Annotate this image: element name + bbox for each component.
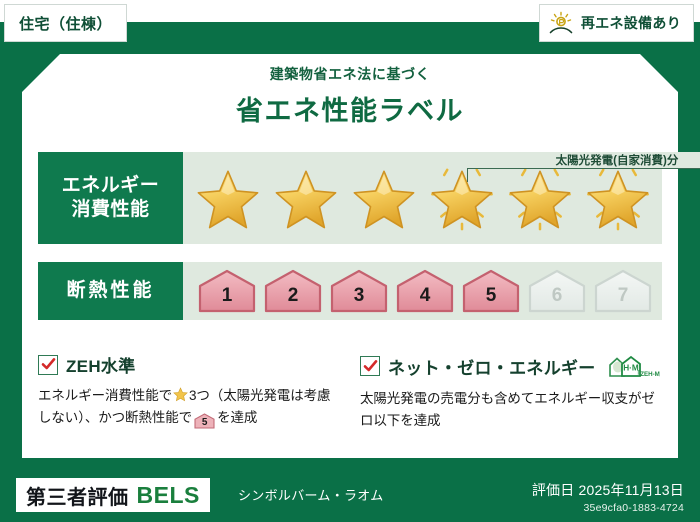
star-icon (347, 161, 421, 235)
insulation-level-5: 5 (461, 268, 521, 314)
criterion-zeh-title: ZEH水準 (66, 352, 136, 377)
evaluation-date-label: 評価日 (532, 482, 575, 498)
criteria-section: ZEH水準 エネルギー消費性能で3つ（太陽光発電は考慮しない）、かつ断熱性能で5… (38, 352, 662, 432)
solar-caption: 太陽光発電(自家消費)分 (467, 152, 700, 168)
title-main: 省エネ性能ラベル (0, 89, 700, 128)
criterion-nze-header: ネット・ゼロ・エネルギー H·M 「ZEH-M」 (360, 352, 662, 380)
energy-performance-row: エネルギー 消費性能 太陽光発電(自家消費)分 (38, 152, 662, 244)
inline-star-icon (173, 387, 188, 402)
insulation-level-scale: 1 2 (183, 268, 653, 314)
insulation-level-7: 7 (593, 268, 653, 314)
energy-performance-body: 太陽光発電(自家消費)分 (183, 152, 662, 244)
zeh-body-post: を達成 (217, 410, 257, 425)
insulation-performance-body: 1 2 (183, 262, 662, 320)
building-type-label: 住宅（住棟） (19, 13, 112, 34)
check-icon (41, 357, 56, 372)
bels-jp-label: 第三者評価 (26, 481, 129, 510)
building-type-tag: 住宅（住棟） (4, 4, 127, 42)
insulation-level-number: 5 (486, 286, 497, 314)
bels-en-label: BELS (137, 482, 200, 509)
star-icon (191, 161, 265, 235)
sun-icon (548, 11, 574, 35)
insulation-performance-row: 断熱性能 1 (38, 262, 662, 320)
zeh-m-logo-icon: H·M 「ZEH-M」 (606, 352, 660, 380)
insulation-level-1: 1 (197, 268, 257, 314)
inline-house-number: 5 (194, 413, 215, 432)
check-icon (363, 359, 378, 374)
checkbox-zeh (38, 355, 58, 375)
evaluation-id: 35e9cfa0-1883-4724 (532, 502, 684, 514)
criterion-zeh-standard: ZEH水準 エネルギー消費性能で3つ（太陽光発電は考慮しない）、かつ断熱性能で5… (38, 352, 340, 432)
inline-house-badge: 5 (194, 413, 215, 429)
insulation-level-2: 2 (263, 268, 323, 314)
criterion-nze-title: ネット・ゼロ・エネルギー (388, 354, 596, 379)
svg-text:「ZEH-M」: 「ZEH-M」 (634, 370, 660, 378)
insulation-level-number: 6 (552, 286, 563, 314)
evaluation-date-value: 2025年11月13日 (579, 482, 684, 498)
energy-performance-label: 住宅（住棟） 再エネ設備あり 建築物省エネ法に基づく 省エネ性能ラベル エネルギ… (0, 0, 700, 522)
criterion-zeh-header: ZEH水準 (38, 352, 340, 377)
star-3 (345, 158, 423, 238)
star-2 (267, 158, 345, 238)
criterion-zeh-body: エネルギー消費性能で3つ（太陽光発電は考慮しない）、かつ断熱性能で5を達成 (38, 385, 340, 429)
property-name: シンボルバーム・ラオム (238, 485, 384, 504)
insulation-level-number: 1 (222, 286, 233, 314)
renewable-badge-label: 再エネ設備あり (581, 13, 681, 33)
insulation-level-number: 4 (420, 286, 431, 314)
evaluation-date: 評価日 2025年11月13日 (532, 480, 684, 500)
zeh-body-pre: エネルギー消費性能で (38, 388, 172, 403)
insulation-level-6: 6 (527, 268, 587, 314)
energy-label-line2: 消費性能 (71, 198, 149, 222)
insulation-level-3: 3 (329, 268, 389, 314)
renewable-equipment-badge: 再エネ設備あり (539, 4, 694, 42)
star-icon (269, 161, 343, 235)
criterion-net-zero-energy: ネット・ゼロ・エネルギー H·M 「ZEH-M」 太陽光発電の売電分も含めてエネ… (360, 352, 662, 432)
criterion-nze-body: 太陽光発電の売電分も含めてエネルギー収支がゼロ以下を達成 (360, 388, 662, 432)
insulation-level-number: 2 (288, 286, 299, 314)
evaluation-info: 評価日 2025年11月13日 35e9cfa0-1883-4724 (532, 480, 684, 514)
energy-label-line1: エネルギー (62, 174, 160, 198)
energy-performance-label: エネルギー 消費性能 (38, 152, 183, 244)
star-1 (189, 158, 267, 238)
title-subtitle: 建築物省エネ法に基づく (0, 64, 700, 84)
insulation-level-4: 4 (395, 268, 455, 314)
solar-bracket (467, 168, 700, 182)
label-title-block: 建築物省エネ法に基づく 省エネ性能ラベル (0, 64, 700, 128)
insulation-level-number: 7 (618, 286, 629, 314)
insulation-level-number: 3 (354, 286, 365, 314)
bels-footer-badge: 第三者評価 BELS (16, 478, 210, 512)
insulation-label-text: 断熱性能 (66, 279, 154, 303)
checkbox-net-zero (360, 356, 380, 376)
insulation-performance-label: 断熱性能 (38, 262, 183, 320)
